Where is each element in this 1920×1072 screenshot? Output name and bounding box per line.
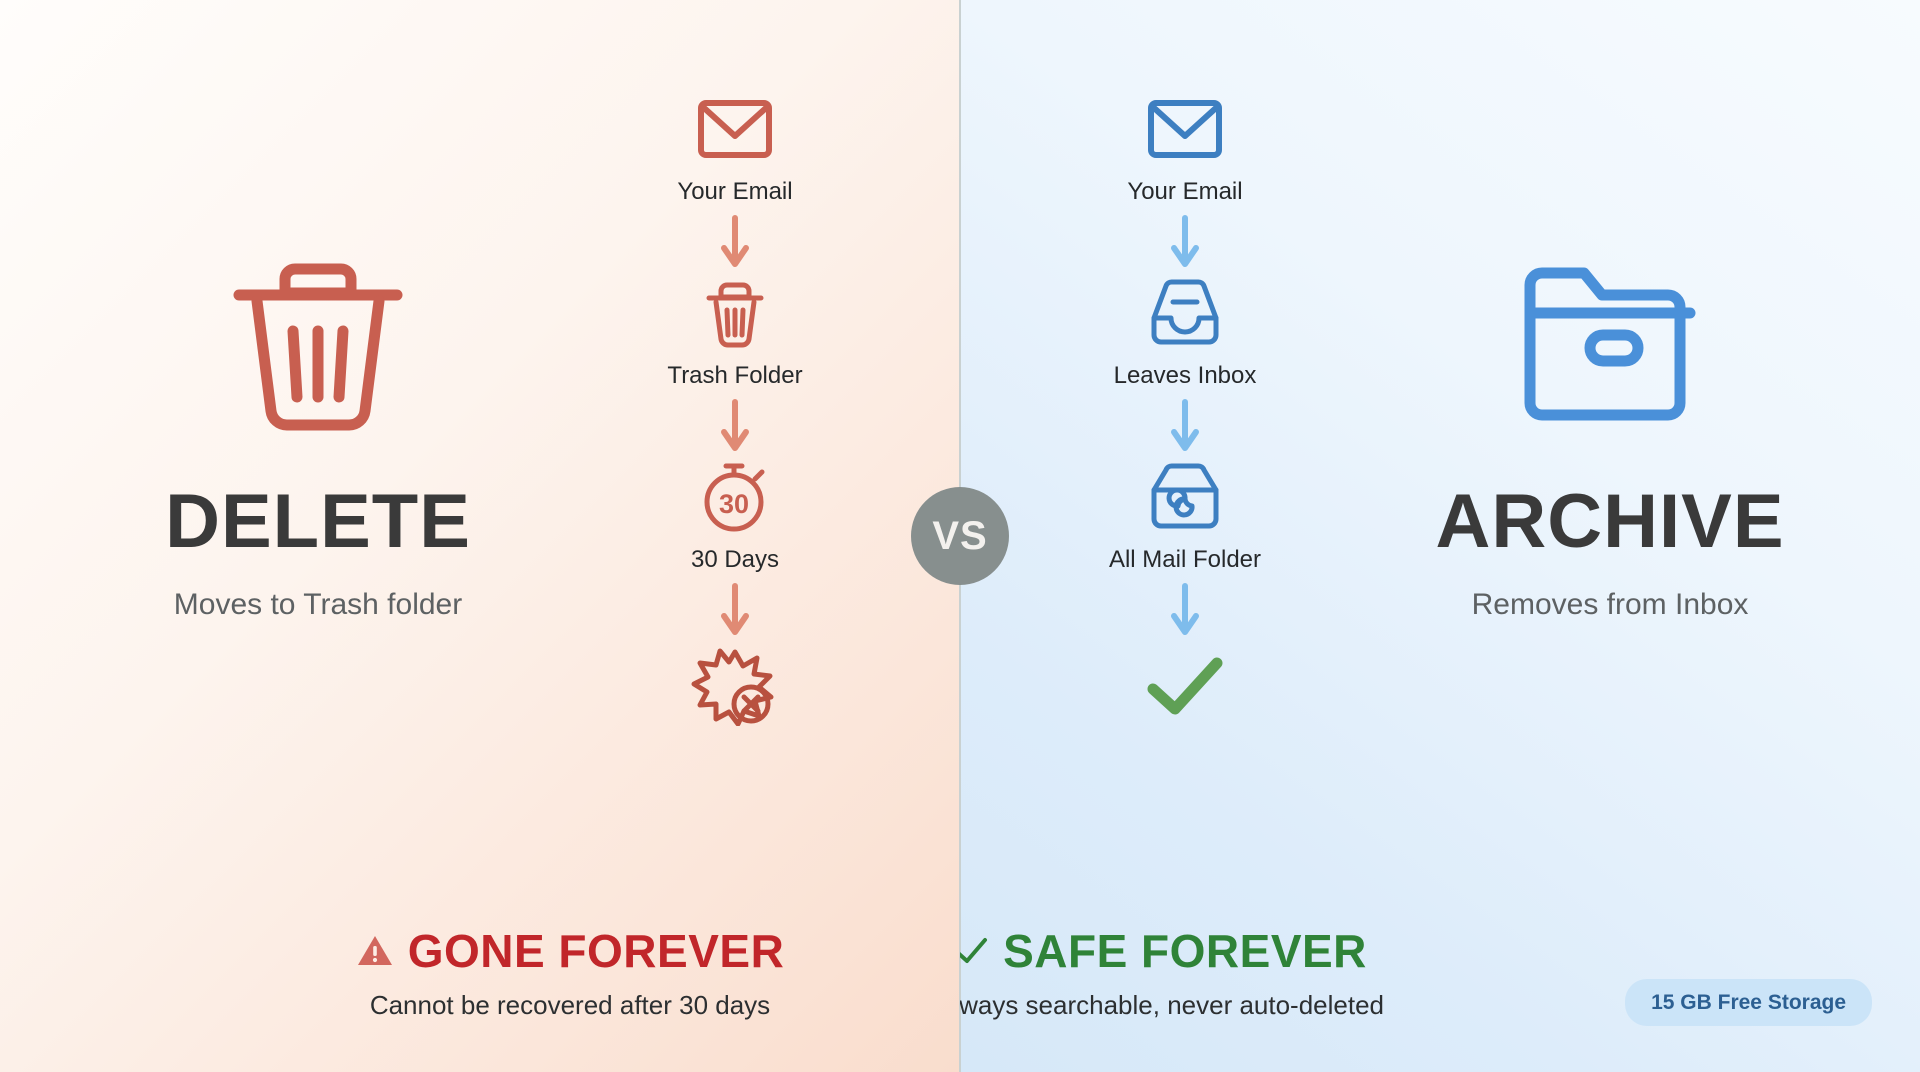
- archive-flow-step-2: Leaves Inbox: [1114, 276, 1257, 388]
- arrow-down-icon: [718, 582, 752, 638]
- flow-label: Your Email: [677, 180, 792, 204]
- folder-icon: [1380, 232, 1840, 442]
- stopwatch-days-value: 30: [719, 489, 749, 519]
- arrow-down-icon: [1168, 214, 1202, 270]
- archive-title: ARCHIVE: [1380, 484, 1840, 560]
- arrow-down-icon: [718, 398, 752, 454]
- flow-label: Leaves Inbox: [1114, 364, 1257, 388]
- infographic-canvas: DELETE Moves to Trash folder Your Email: [0, 0, 1920, 1072]
- delete-panel: DELETE Moves to Trash folder Your Email: [0, 0, 960, 1072]
- burst-x-icon: [691, 648, 779, 724]
- archive-panel: ARCHIVE Removes from Inbox Your Email: [960, 0, 1920, 1072]
- delete-flow-step-3: 30 30 Days: [691, 460, 779, 572]
- archive-summary: ARCHIVE Removes from Inbox: [1380, 232, 1840, 620]
- delete-subtitle: Moves to Trash folder: [88, 590, 548, 620]
- check-mark-icon: [1143, 648, 1227, 724]
- delete-flow: Your Email: [585, 92, 885, 724]
- delete-summary: DELETE Moves to Trash folder: [88, 232, 548, 620]
- inbox-tray-icon: [1146, 276, 1224, 350]
- delete-verdict: GONE FOREVER Cannot be recovered after 3…: [190, 928, 950, 1018]
- vs-badge: VS: [911, 487, 1009, 585]
- trash-can-icon: [88, 232, 548, 442]
- archive-verdict-headline: SAFE FOREVER: [1003, 928, 1367, 974]
- stopwatch-icon: 30: [695, 460, 775, 534]
- flow-label: All Mail Folder: [1109, 548, 1261, 572]
- arrow-down-icon: [1168, 398, 1202, 454]
- envelope-icon: [1147, 92, 1223, 166]
- delete-flow-step-1: Your Email: [677, 92, 792, 204]
- archive-subtitle: Removes from Inbox: [1380, 590, 1840, 620]
- archive-flow-step-1: Your Email: [1127, 92, 1242, 204]
- warning-triangle-icon: [356, 934, 394, 968]
- check-mark-icon: [960, 935, 989, 967]
- delete-verdict-subtext: Cannot be recovered after 30 days: [190, 992, 950, 1018]
- envelope-icon: [697, 92, 773, 166]
- flow-label: Your Email: [1127, 180, 1242, 204]
- arrow-down-icon: [718, 214, 752, 270]
- delete-verdict-headline: GONE FOREVER: [408, 928, 785, 974]
- storage-badge: 15 GB Free Storage: [1625, 979, 1872, 1026]
- archive-flow: Your Email: [1035, 92, 1335, 724]
- archive-verdict: SAFE FOREVER Always searchable, never au…: [960, 928, 1540, 1018]
- arrow-down-icon: [1168, 582, 1202, 638]
- trash-can-icon: [703, 276, 767, 350]
- vs-label: VS: [932, 516, 987, 556]
- delete-title: DELETE: [88, 484, 548, 560]
- archive-flow-step-3: All Mail Folder: [1109, 460, 1261, 572]
- flow-label: Trash Folder: [667, 364, 802, 388]
- flow-label: 30 Days: [691, 548, 779, 572]
- archive-verdict-subtext: Always searchable, never auto-deleted: [960, 992, 1540, 1018]
- delete-flow-step-2: Trash Folder: [667, 276, 802, 388]
- infinity-box-icon: [1146, 460, 1224, 534]
